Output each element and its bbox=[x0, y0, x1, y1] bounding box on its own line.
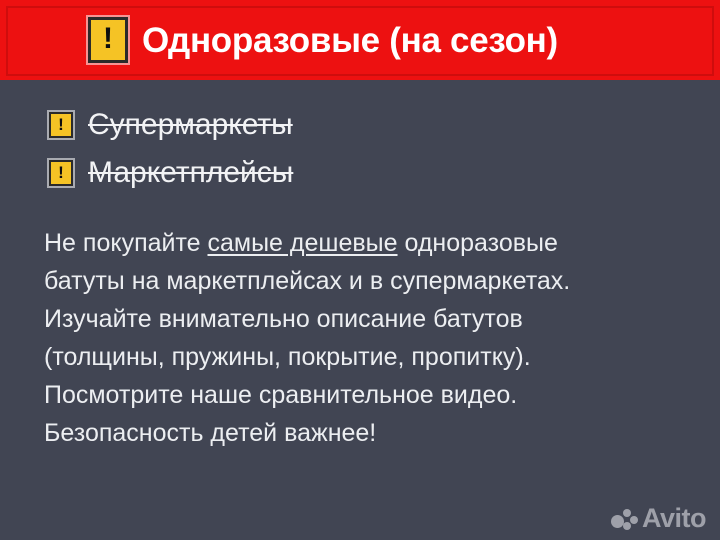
list-item: ! Супермаркеты bbox=[49, 108, 293, 141]
body-line-1-pre: Не покупайте bbox=[44, 229, 208, 257]
warning-icon-glyph: ! bbox=[91, 20, 125, 60]
body-line-4: (толщины, пружины, покрытие, пропитку). bbox=[44, 338, 694, 376]
list-item-label-supermarkets: Супермаркеты bbox=[88, 108, 293, 141]
page-title: Одноразовые (на сезон) bbox=[142, 23, 558, 58]
header-band: ! Одноразовые (на сезон) bbox=[0, 0, 720, 80]
body-line-1-post: одноразовые bbox=[398, 229, 558, 257]
warning-exclamation-icon: ! bbox=[49, 112, 73, 138]
list-item: ! Маркетплейсы bbox=[49, 156, 293, 189]
body-line-6: Безопасность детей важнее! bbox=[44, 414, 694, 452]
body-line-1: Не покупайте самые дешевые одноразовые bbox=[44, 224, 694, 262]
warning-exclamation-icon: ! bbox=[49, 160, 73, 186]
warning-icon-glyph: ! bbox=[51, 114, 71, 136]
warning-bullet-list: ! Супермаркеты ! Маркетплейсы bbox=[49, 108, 293, 189]
body-line-5: Посмотрите наше сравнительное видео. bbox=[44, 376, 694, 414]
slide-canvas: ! Одноразовые (на сезон) ! Супермаркеты … bbox=[0, 0, 720, 540]
body-paragraph: Не покупайте самые дешевые одноразовые б… bbox=[44, 224, 694, 452]
avito-dots-logo bbox=[611, 507, 637, 531]
body-line-1-emphasis: самые дешевые bbox=[208, 229, 398, 257]
list-item-label-marketplaces: Маркетплейсы bbox=[88, 156, 293, 189]
avito-wordmark: Avito bbox=[642, 505, 706, 532]
avito-watermark: Avito bbox=[611, 505, 706, 532]
warning-exclamation-icon: ! bbox=[88, 17, 128, 63]
header-content: ! Одноразовые (на сезон) bbox=[0, 17, 558, 63]
avito-dot-top bbox=[623, 509, 631, 517]
warning-icon-glyph: ! bbox=[51, 162, 71, 184]
body-line-2: батуты на маркетплейсах и в супермаркета… bbox=[44, 262, 694, 300]
body-line-3: Изучайте внимательно описание батутов bbox=[44, 300, 694, 338]
avito-dot-bottom bbox=[623, 522, 631, 530]
avito-dot-right bbox=[630, 516, 638, 524]
